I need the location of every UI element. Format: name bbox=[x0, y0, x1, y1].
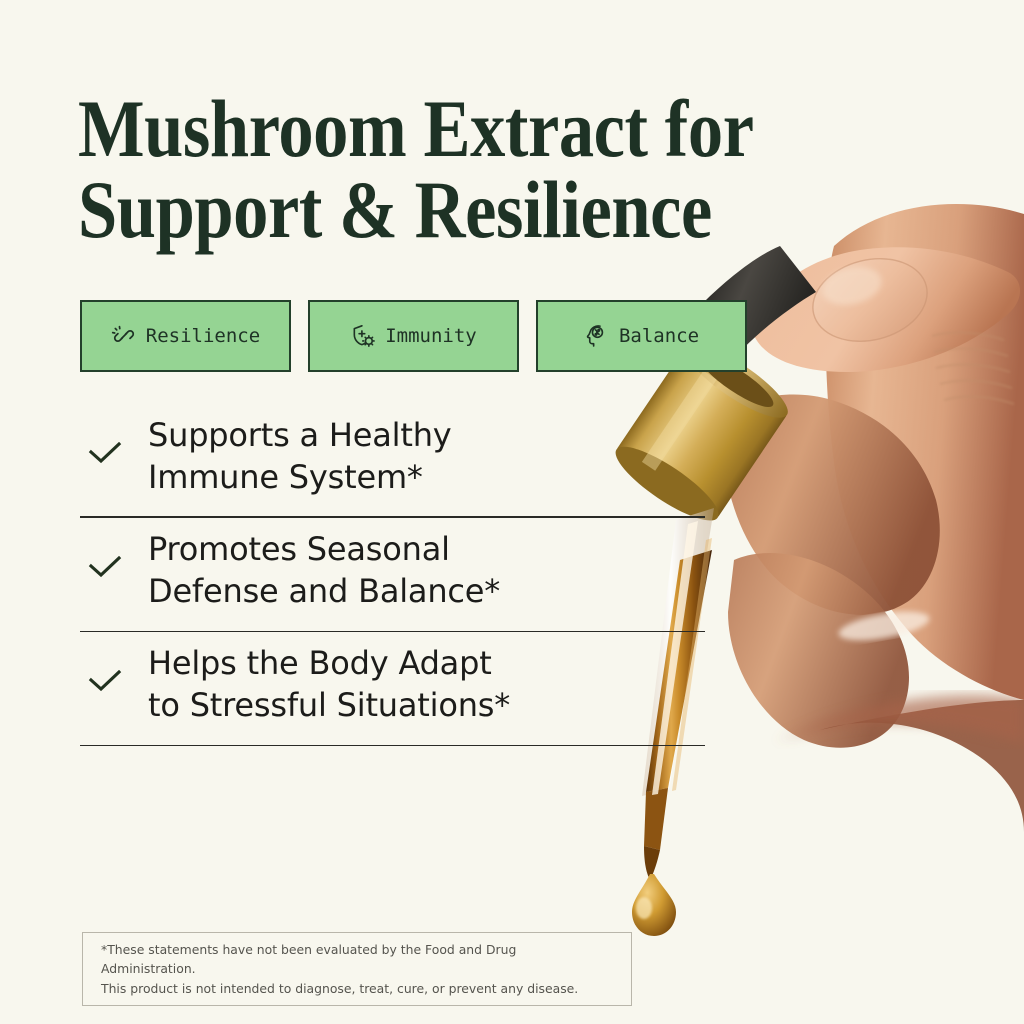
fda-disclaimer: *These statements have not been evaluate… bbox=[82, 932, 632, 1006]
benefit-item: Supports a Healthy Immune System* bbox=[80, 404, 705, 516]
benefits-list: Supports a Healthy Immune System* Promot… bbox=[80, 404, 705, 746]
disclaimer-line-1: *These statements have not been evaluate… bbox=[101, 940, 613, 978]
benefit-text: Helps the Body Adapt to Stressful Situat… bbox=[148, 642, 705, 726]
broken-chain-link-icon bbox=[111, 323, 137, 349]
badge-balance[interactable]: Balance bbox=[536, 300, 747, 372]
badge-immunity[interactable]: Immunity bbox=[308, 300, 519, 372]
benefit-line-1: Supports a Healthy bbox=[148, 416, 452, 454]
benefit-line-1: Promotes Seasonal bbox=[148, 530, 450, 568]
badge-resilience[interactable]: Resilience bbox=[80, 300, 291, 372]
headline-line-1: Mushroom Extract for bbox=[78, 88, 757, 169]
benefit-text: Supports a Healthy Immune System* bbox=[148, 414, 705, 498]
benefit-item: Helps the Body Adapt to Stressful Situat… bbox=[80, 632, 705, 744]
badge-label: Resilience bbox=[146, 325, 260, 347]
disclaimer-line-2: This product is not intended to diagnose… bbox=[101, 979, 613, 998]
headline-line-2: Support & Resilience bbox=[78, 169, 757, 250]
check-icon bbox=[88, 556, 122, 580]
shield-plus-virus-icon bbox=[350, 323, 376, 349]
benefit-line-2: Defense and Balance* bbox=[148, 570, 705, 612]
check-icon bbox=[88, 442, 122, 466]
page-title: Mushroom Extract for Support & Resilienc… bbox=[78, 88, 757, 250]
check-icon bbox=[88, 670, 122, 694]
divider bbox=[80, 745, 705, 747]
badge-label: Balance bbox=[619, 325, 699, 347]
benefit-line-1: Helps the Body Adapt bbox=[148, 644, 492, 682]
badge-label: Immunity bbox=[385, 325, 477, 347]
benefit-line-2: to Stressful Situations* bbox=[148, 684, 705, 726]
head-brain-icon bbox=[584, 323, 610, 349]
benefit-line-2: Immune System* bbox=[148, 456, 705, 498]
benefit-item: Promotes Seasonal Defense and Balance* bbox=[80, 518, 705, 630]
product-infographic: Mushroom Extract for Support & Resilienc… bbox=[0, 0, 1024, 1024]
benefit-text: Promotes Seasonal Defense and Balance* bbox=[148, 528, 705, 612]
badge-row: Resilience Immunity Balance bbox=[80, 300, 747, 372]
